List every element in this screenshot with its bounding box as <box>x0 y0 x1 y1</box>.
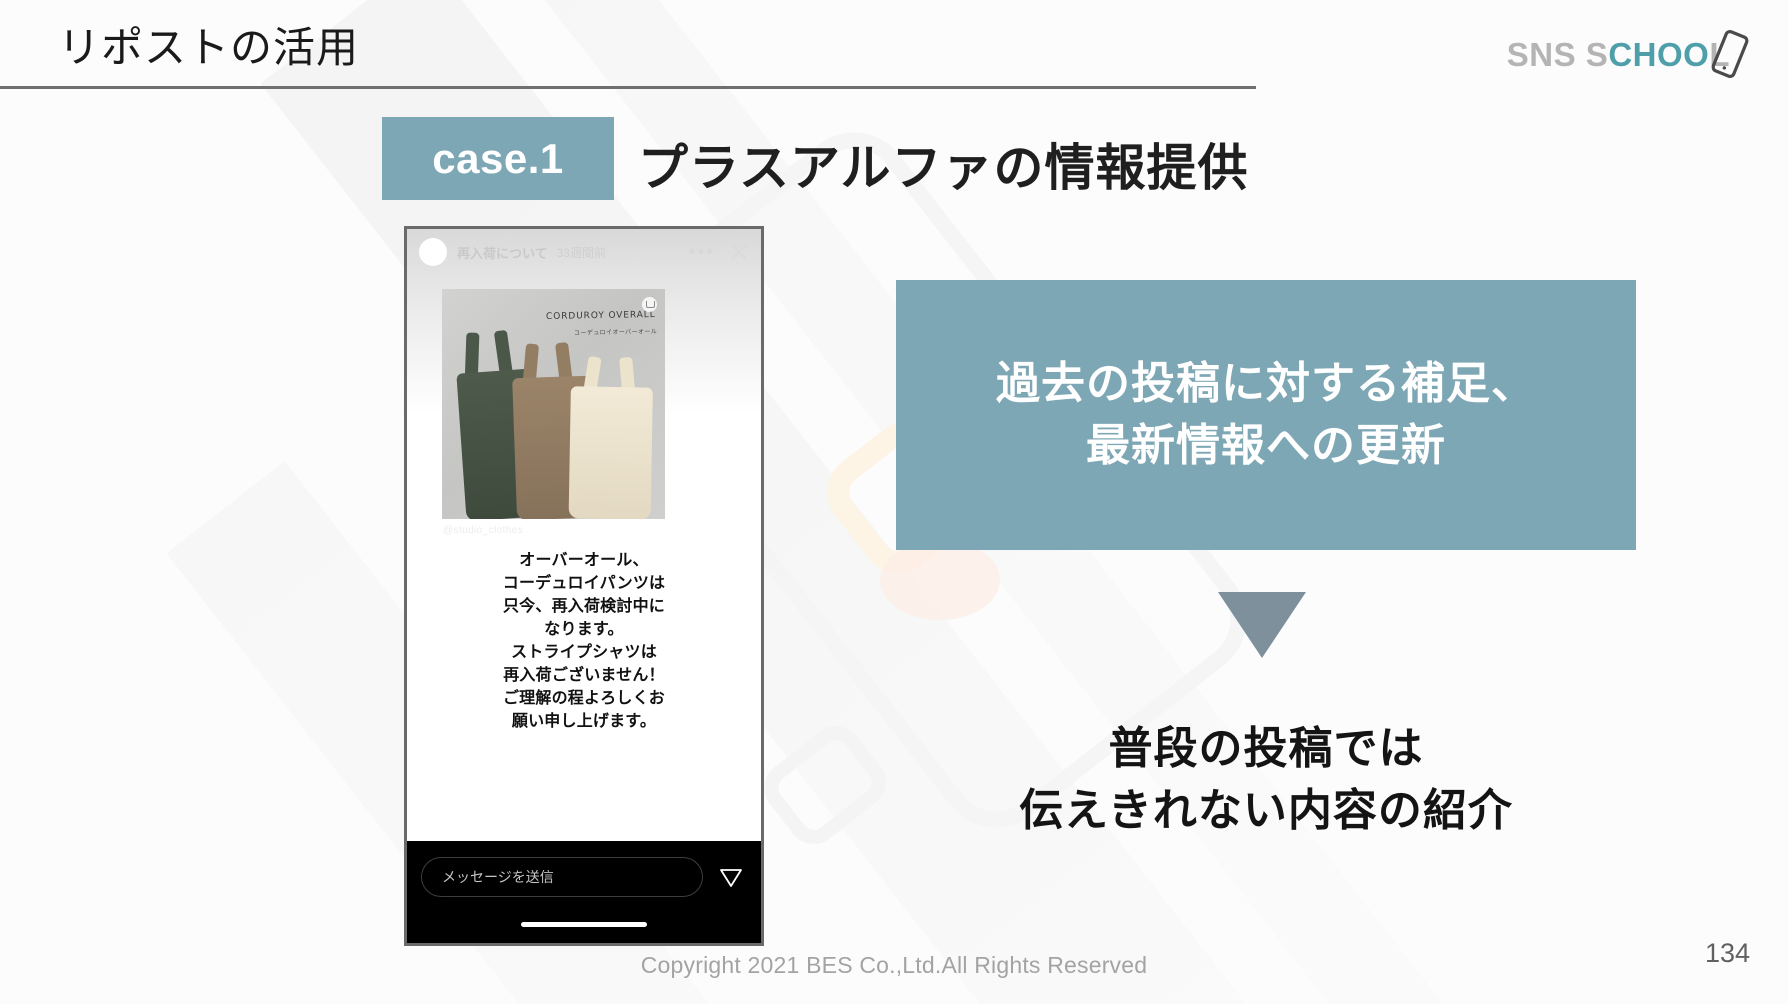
watermark-blob <box>880 540 1000 620</box>
product-photo: CORDUROY OVERALL コーデュロイオーバーオール <box>442 289 665 519</box>
logo-text-part1: SNS S <box>1507 36 1609 73</box>
story-body-line: 只今、再入荷検討中に <box>421 595 747 618</box>
avatar <box>419 238 447 266</box>
smartphone-icon <box>1708 28 1752 80</box>
logo-text-part2: CHOO <box>1608 36 1709 73</box>
story-screen: 再入荷について 33週間前 ••• <box>407 229 761 847</box>
logo-text: SNS SCHOOL <box>1507 38 1730 71</box>
story-body-text: オーバーオール、 コーデュロイパンツは 只今、再入荷検討中に なります。 ストラ… <box>407 549 761 733</box>
story-body-line: ご理解の程よろしくお <box>421 687 747 710</box>
page-title: リポストの活用 <box>58 14 359 75</box>
phone-bottom-bar: メッセージを送信 <box>407 841 761 943</box>
story-header: 再入荷について 33週間前 ••• <box>407 229 761 275</box>
story-body-line: オーバーオール、 <box>421 549 747 572</box>
caption-text: 普段の投稿では 伝えきれない内容の紹介 <box>896 718 1636 841</box>
down-arrow-icon <box>1218 592 1306 658</box>
story-body-line: コーデュロイパンツは <box>421 572 747 595</box>
copyright-text: Copyright 2021 BES Co.,Ltd.All Rights Re… <box>0 952 1788 979</box>
callout-box: 過去の投稿に対する補足、 最新情報への更新 <box>896 280 1636 550</box>
home-indicator <box>521 922 647 927</box>
close-icon[interactable] <box>729 242 749 262</box>
story-username: 再入荷について <box>457 243 548 262</box>
case-badge-label: case.1 <box>432 135 563 183</box>
story-body-line: なります。 <box>421 618 747 641</box>
watermark-square <box>754 716 896 855</box>
product-subtitle-text: コーデュロイオーバーオール <box>574 326 657 336</box>
story-body-line: 再入荷ございません！ <box>421 664 747 687</box>
message-row: メッセージを送信 <box>407 857 761 897</box>
product-title-text: CORDUROY OVERALL <box>546 310 656 322</box>
caption-line: 普段の投稿では <box>896 718 1636 780</box>
message-input-placeholder: メッセージを送信 <box>442 867 554 887</box>
page-number: 134 <box>1705 938 1750 969</box>
brand-logo: SNS SCHOOL <box>1507 26 1752 82</box>
message-input[interactable]: メッセージを送信 <box>421 857 703 897</box>
callout-line: 最新情報への更新 <box>1086 415 1446 477</box>
more-options-icon[interactable]: ••• <box>689 243 715 262</box>
story-body-line: ストライプシャツは <box>421 641 747 664</box>
story-timestamp: 33週間前 <box>557 244 606 261</box>
send-icon[interactable] <box>715 864 747 890</box>
caption-line: 伝えきれない内容の紹介 <box>896 780 1636 842</box>
product-handle-watermark: @studio_clothes <box>443 525 523 536</box>
story-body-line: 願い申し上げます。 <box>421 710 747 733</box>
instagram-story-phone-mock: 再入荷について 33週間前 ••• <box>404 226 764 946</box>
callout-line: 過去の投稿に対する補足、 <box>996 353 1536 415</box>
overall-body <box>569 386 653 519</box>
case-badge: case.1 <box>382 117 614 200</box>
slide: リポストの活用 SNS SCHOOL case.1 プラスアルファの情報提供 再… <box>0 0 1788 1004</box>
case-heading: プラスアルファの情報提供 <box>638 128 1249 200</box>
title-divider <box>0 86 1256 89</box>
bookmark-icon[interactable] <box>642 297 657 312</box>
overall-cream <box>569 356 654 519</box>
